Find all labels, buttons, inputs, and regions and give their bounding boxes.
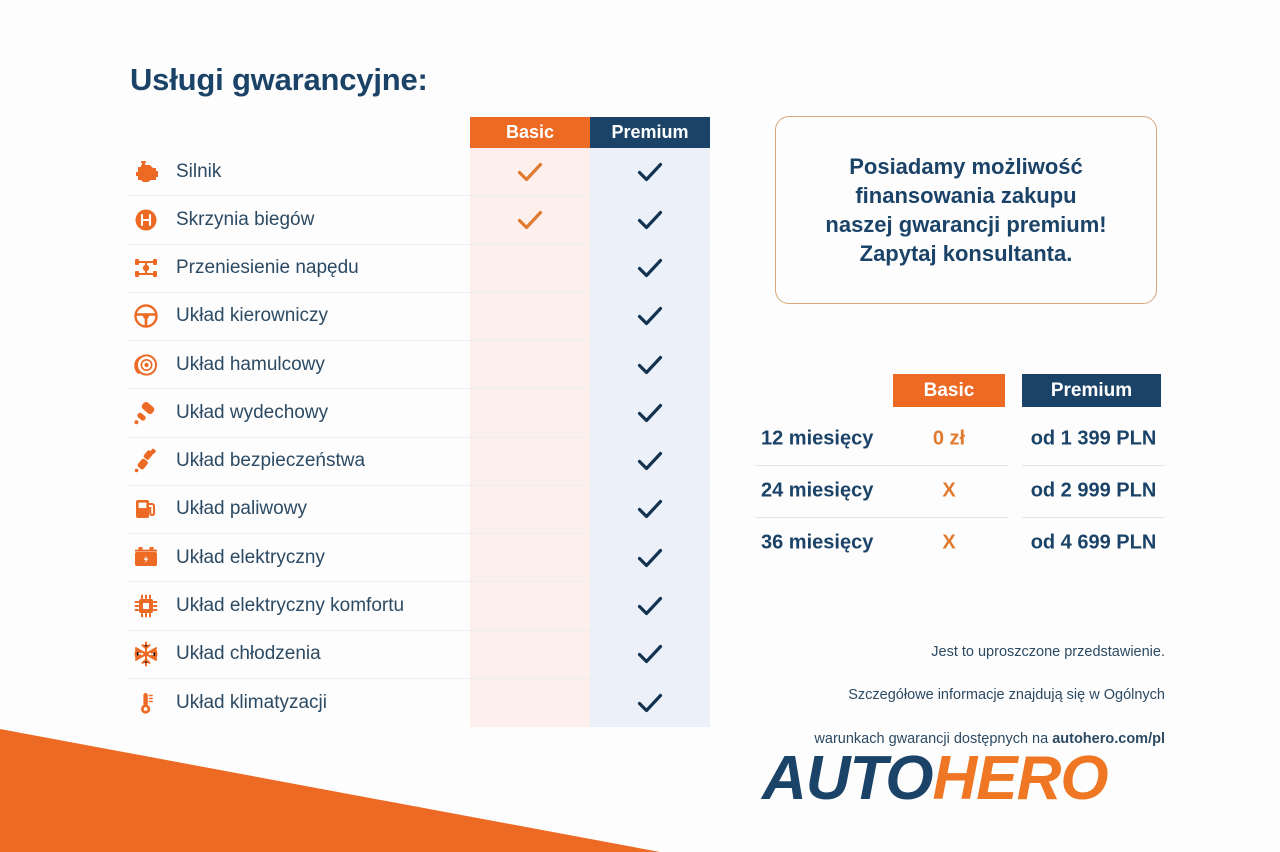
pricing-basic-value: X [893,532,1005,555]
feature-label: Układ wydechowy [176,402,328,424]
pricing-row-separator-right [1022,517,1165,518]
feature-basic-check-icon [470,209,590,231]
feature-row: Skrzynia biegów [128,196,710,244]
logo-hero-text: HERO [933,744,1108,813]
feature-premium-check-icon [590,305,710,327]
feature-header-premium: Premium [590,117,710,148]
feature-row: Układ bezpieczeństwa [128,438,710,486]
feature-premium-check-icon [590,402,710,424]
exhaust-icon [130,397,162,429]
feature-basic-check-icon [470,161,590,183]
thermometer-icon [130,687,162,719]
pricing-row-separator-right [1022,465,1165,466]
drivetrain-icon [130,252,162,284]
feature-label: Układ paliwowy [176,498,307,520]
feature-row: Układ elektryczny komfortu [128,582,710,630]
feature-header-basic: Basic [470,117,590,148]
feature-label: Układ chłodzenia [176,643,321,665]
feature-premium-check-icon [590,692,710,714]
feature-premium-check-icon [590,161,710,183]
pricing-row: 12 miesięcy0 złod 1 399 PLN [755,413,1165,465]
feature-label: Skrzynia biegów [176,209,314,231]
battery-icon [130,542,162,574]
pricing-row: 36 miesięcyXod 4 699 PLN [755,517,1165,569]
feature-row: Układ elektryczny [128,534,710,582]
feature-premium-check-icon [590,257,710,279]
feature-label: Układ hamulcowy [176,354,325,376]
pricing-premium-value: od 1 399 PLN [1022,428,1165,451]
feature-label: Przeniesienie napędu [176,257,359,279]
pricing-table: Basic Premium 12 miesięcy0 złod 1 399 PL… [755,374,1165,569]
disclaimer-text: Jest to uproszczone przedstawienie. Szcz… [700,620,1165,751]
steering-wheel-icon [130,300,162,332]
pricing-period-label: 12 miesięcy [761,428,873,451]
seatbelt-icon [130,445,162,477]
logo-auto-text: AUTO [762,744,933,813]
pricing-premium-value: od 4 699 PLN [1022,532,1165,555]
feature-rows: SilnikSkrzynia biegówPrzeniesienie napęd… [128,148,710,727]
feature-premium-check-icon [590,354,710,376]
feature-premium-check-icon [590,595,710,617]
pricing-row-separator-left [755,465,1009,466]
pricing-period-label: 36 miesięcy [761,532,873,555]
feature-premium-check-icon [590,547,710,569]
feature-row: Układ kierowniczy [128,293,710,341]
chip-icon [130,590,162,622]
feature-table-header-row: Basic Premium [128,117,710,148]
disclaimer-line-1: Jest to uproszczone przedstawienie. [931,644,1165,660]
snowflake-icon [130,638,162,670]
disclaimer-line-2: Szczegółowe informacje znajdują się w Og… [848,687,1165,703]
brake-disc-icon [130,349,162,381]
pricing-period-label: 24 miesięcy [761,480,873,503]
feature-row: Układ wydechowy [128,389,710,437]
feature-comparison-table: Basic Premium SilnikSkrzynia biegówPrzen… [128,117,710,727]
feature-row: Układ chłodzenia [128,631,710,679]
gearbox-icon [130,204,162,236]
pricing-basic-value: 0 zł [893,428,1005,451]
autohero-logo: AUTOHERO [762,748,1108,810]
orange-corner-wedge [0,707,660,852]
feature-label: Układ kierowniczy [176,305,328,327]
feature-row: Przeniesienie napędu [128,245,710,293]
fuel-pump-icon [130,493,162,525]
feature-premium-check-icon [590,450,710,472]
feature-row: Silnik [128,148,710,196]
pricing-row: 24 miesięcyXod 2 999 PLN [755,465,1165,517]
feature-label: Układ bezpieczeństwa [176,450,365,472]
feature-label: Układ elektryczny komfortu [176,595,404,617]
pricing-premium-value: od 2 999 PLN [1022,480,1165,503]
feature-label: Układ elektryczny [176,547,325,569]
feature-premium-check-icon [590,209,710,231]
financing-callout-box: Posiadamy możliwość finansowania zakupu … [775,116,1157,304]
feature-row: Układ klimatyzacji [128,679,710,727]
pricing-row-separator-left [755,517,1009,518]
pricing-basic-value: X [893,480,1005,503]
feature-premium-check-icon [590,643,710,665]
page-title: Usługi gwarancyjne: [130,62,428,98]
pricing-rows: 12 miesięcy0 złod 1 399 PLN24 miesięcyXo… [755,413,1165,569]
pricing-header-premium: Premium [1022,374,1161,407]
warranty-infographic: Usługi gwarancyjne: Basic Premium Silnik… [0,0,1280,852]
financing-callout-text: Posiadamy możliwość finansowania zakupu … [813,152,1118,269]
pricing-header-basic: Basic [893,374,1005,407]
engine-icon [130,156,162,188]
feature-label: Układ klimatyzacji [176,692,327,714]
feature-row: Układ paliwowy [128,486,710,534]
feature-premium-check-icon [590,498,710,520]
pricing-header-row: Basic Premium [755,374,1165,407]
feature-row: Układ hamulcowy [128,341,710,389]
feature-label: Silnik [176,161,221,183]
